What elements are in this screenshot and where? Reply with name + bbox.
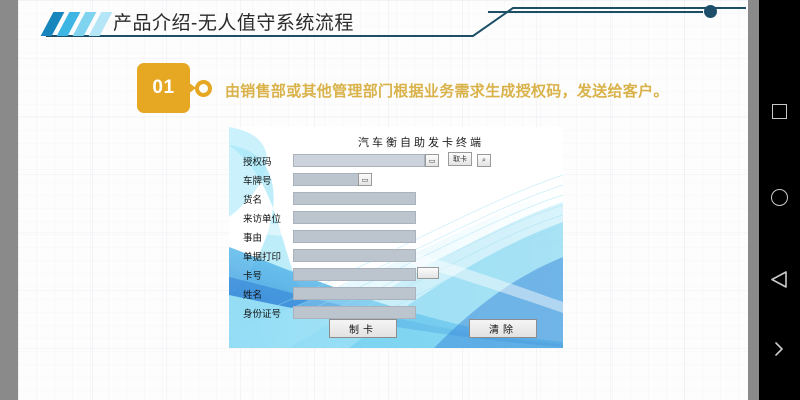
- field-row-goods-name: 货名: [243, 192, 483, 205]
- square-recents-icon[interactable]: [762, 94, 796, 128]
- field-row-person-name: 姓名: [243, 287, 483, 300]
- field-row-card-number: 卡号: [243, 268, 483, 281]
- field-label-plate-number: 车牌号: [243, 173, 289, 186]
- slide-canvas: 产品介绍-无人值守系统流程 01 由销售部或其他管理部门根据业务需求生成授权码，…: [18, 0, 748, 400]
- stepper-icon[interactable]: [417, 267, 439, 279]
- field-label-receipt-print: 单据打印: [243, 249, 289, 262]
- top-accent-line: [488, 11, 703, 13]
- field-label-auth-code: 授权码: [243, 154, 289, 167]
- field-label-goods-name: 货名: [243, 192, 289, 205]
- circle-home-icon[interactable]: [762, 180, 796, 214]
- slash-logo-icon: [47, 12, 117, 36]
- app-screenshot: 汽车衡自助发卡终端 授权码 ▭ 取卡 ⌕ 车牌号 ▭ 货名 来访单位: [229, 127, 563, 348]
- field-label-card-number: 卡号: [243, 268, 289, 281]
- id-number-input[interactable]: [293, 306, 416, 319]
- chevron-right-icon[interactable]: [762, 332, 796, 366]
- field-row-reason: 事由: [243, 230, 483, 243]
- field-label-visiting-unit: 来访单位: [243, 211, 289, 224]
- field-label-id-number: 身份证号: [243, 306, 289, 319]
- field-label-person-name: 姓名: [243, 287, 289, 300]
- goods-name-input[interactable]: [293, 192, 416, 205]
- screen-root: 产品介绍-无人值守系统流程 01 由销售部或其他管理部门根据业务需求生成授权码，…: [0, 0, 800, 400]
- step-number: 01: [152, 77, 174, 99]
- field-row-auth-code: 授权码: [243, 154, 483, 167]
- field-row-id-number: 身份证号: [243, 306, 483, 319]
- plate-number-input[interactable]: [293, 173, 359, 186]
- clear-button[interactable]: 清除: [469, 319, 537, 338]
- field-row-visiting-unit: 来访单位: [243, 211, 483, 224]
- top-accent-dot: [704, 5, 717, 18]
- step-description: 由销售部或其他管理部门根据业务需求生成授权码，发送给客户。: [225, 80, 669, 101]
- letterbox-right: [748, 0, 759, 400]
- letterbox-left: [0, 0, 18, 400]
- field-row-receipt-print: 单据打印: [243, 249, 483, 262]
- visiting-unit-input[interactable]: [293, 211, 416, 224]
- make-card-button[interactable]: 制卡: [329, 319, 397, 338]
- person-name-input[interactable]: [293, 287, 416, 300]
- step-ring-icon: [195, 80, 212, 97]
- plate-card-reader-icon[interactable]: ▭: [358, 173, 372, 186]
- card-number-input[interactable]: [293, 268, 416, 281]
- page-title: 产品介绍-无人值守系统流程: [113, 8, 354, 35]
- receipt-print-input[interactable]: [293, 249, 416, 262]
- triangle-back-icon[interactable]: [762, 262, 796, 296]
- field-label-reason: 事由: [243, 230, 289, 243]
- take-card-button[interactable]: 取卡: [448, 152, 472, 166]
- reason-input[interactable]: [293, 230, 416, 243]
- auth-code-input[interactable]: [293, 154, 425, 167]
- app-title: 汽车衡自助发卡终端: [358, 134, 484, 150]
- magnifier-icon[interactable]: ⌕: [477, 154, 491, 167]
- card-reader-icon[interactable]: ▭: [425, 154, 439, 167]
- android-navigation-bar: [748, 0, 800, 400]
- step-badge: 01: [137, 63, 190, 113]
